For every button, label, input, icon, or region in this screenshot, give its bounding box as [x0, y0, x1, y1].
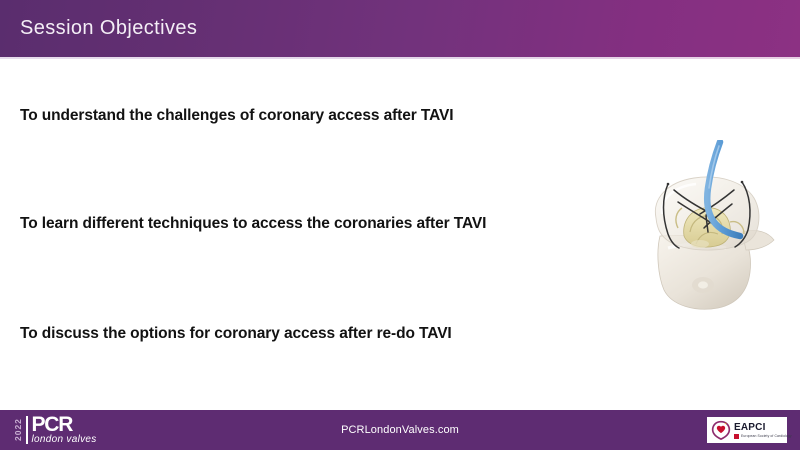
model-surface-highlight [698, 281, 708, 288]
eapci-logo: EAPCI European Society of Cardiology [707, 417, 787, 443]
objective-item-3: To discuss the options for coronary acce… [20, 325, 452, 343]
esc-mark-icon [734, 434, 739, 439]
page-title: Session Objectives [20, 17, 197, 40]
footer-website-url[interactable]: PCRLondonValves.com [0, 424, 800, 436]
eapci-society-name: European Society of Cardiology [741, 434, 792, 438]
objective-item-2: To learn different techniques to access … [20, 215, 486, 233]
eapci-name: EAPCI [734, 422, 792, 433]
aortic-root-model-image [634, 140, 792, 325]
objective-item-1: To understand the challenges of coronary… [20, 107, 453, 125]
aortic-root-model-illustration [634, 140, 792, 325]
eapci-text-block: EAPCI European Society of Cardiology [734, 422, 792, 439]
presentation-slide: Session Objectives To understand the cha… [0, 0, 800, 450]
heart-icon [711, 420, 731, 440]
esc-line: European Society of Cardiology [734, 434, 792, 439]
